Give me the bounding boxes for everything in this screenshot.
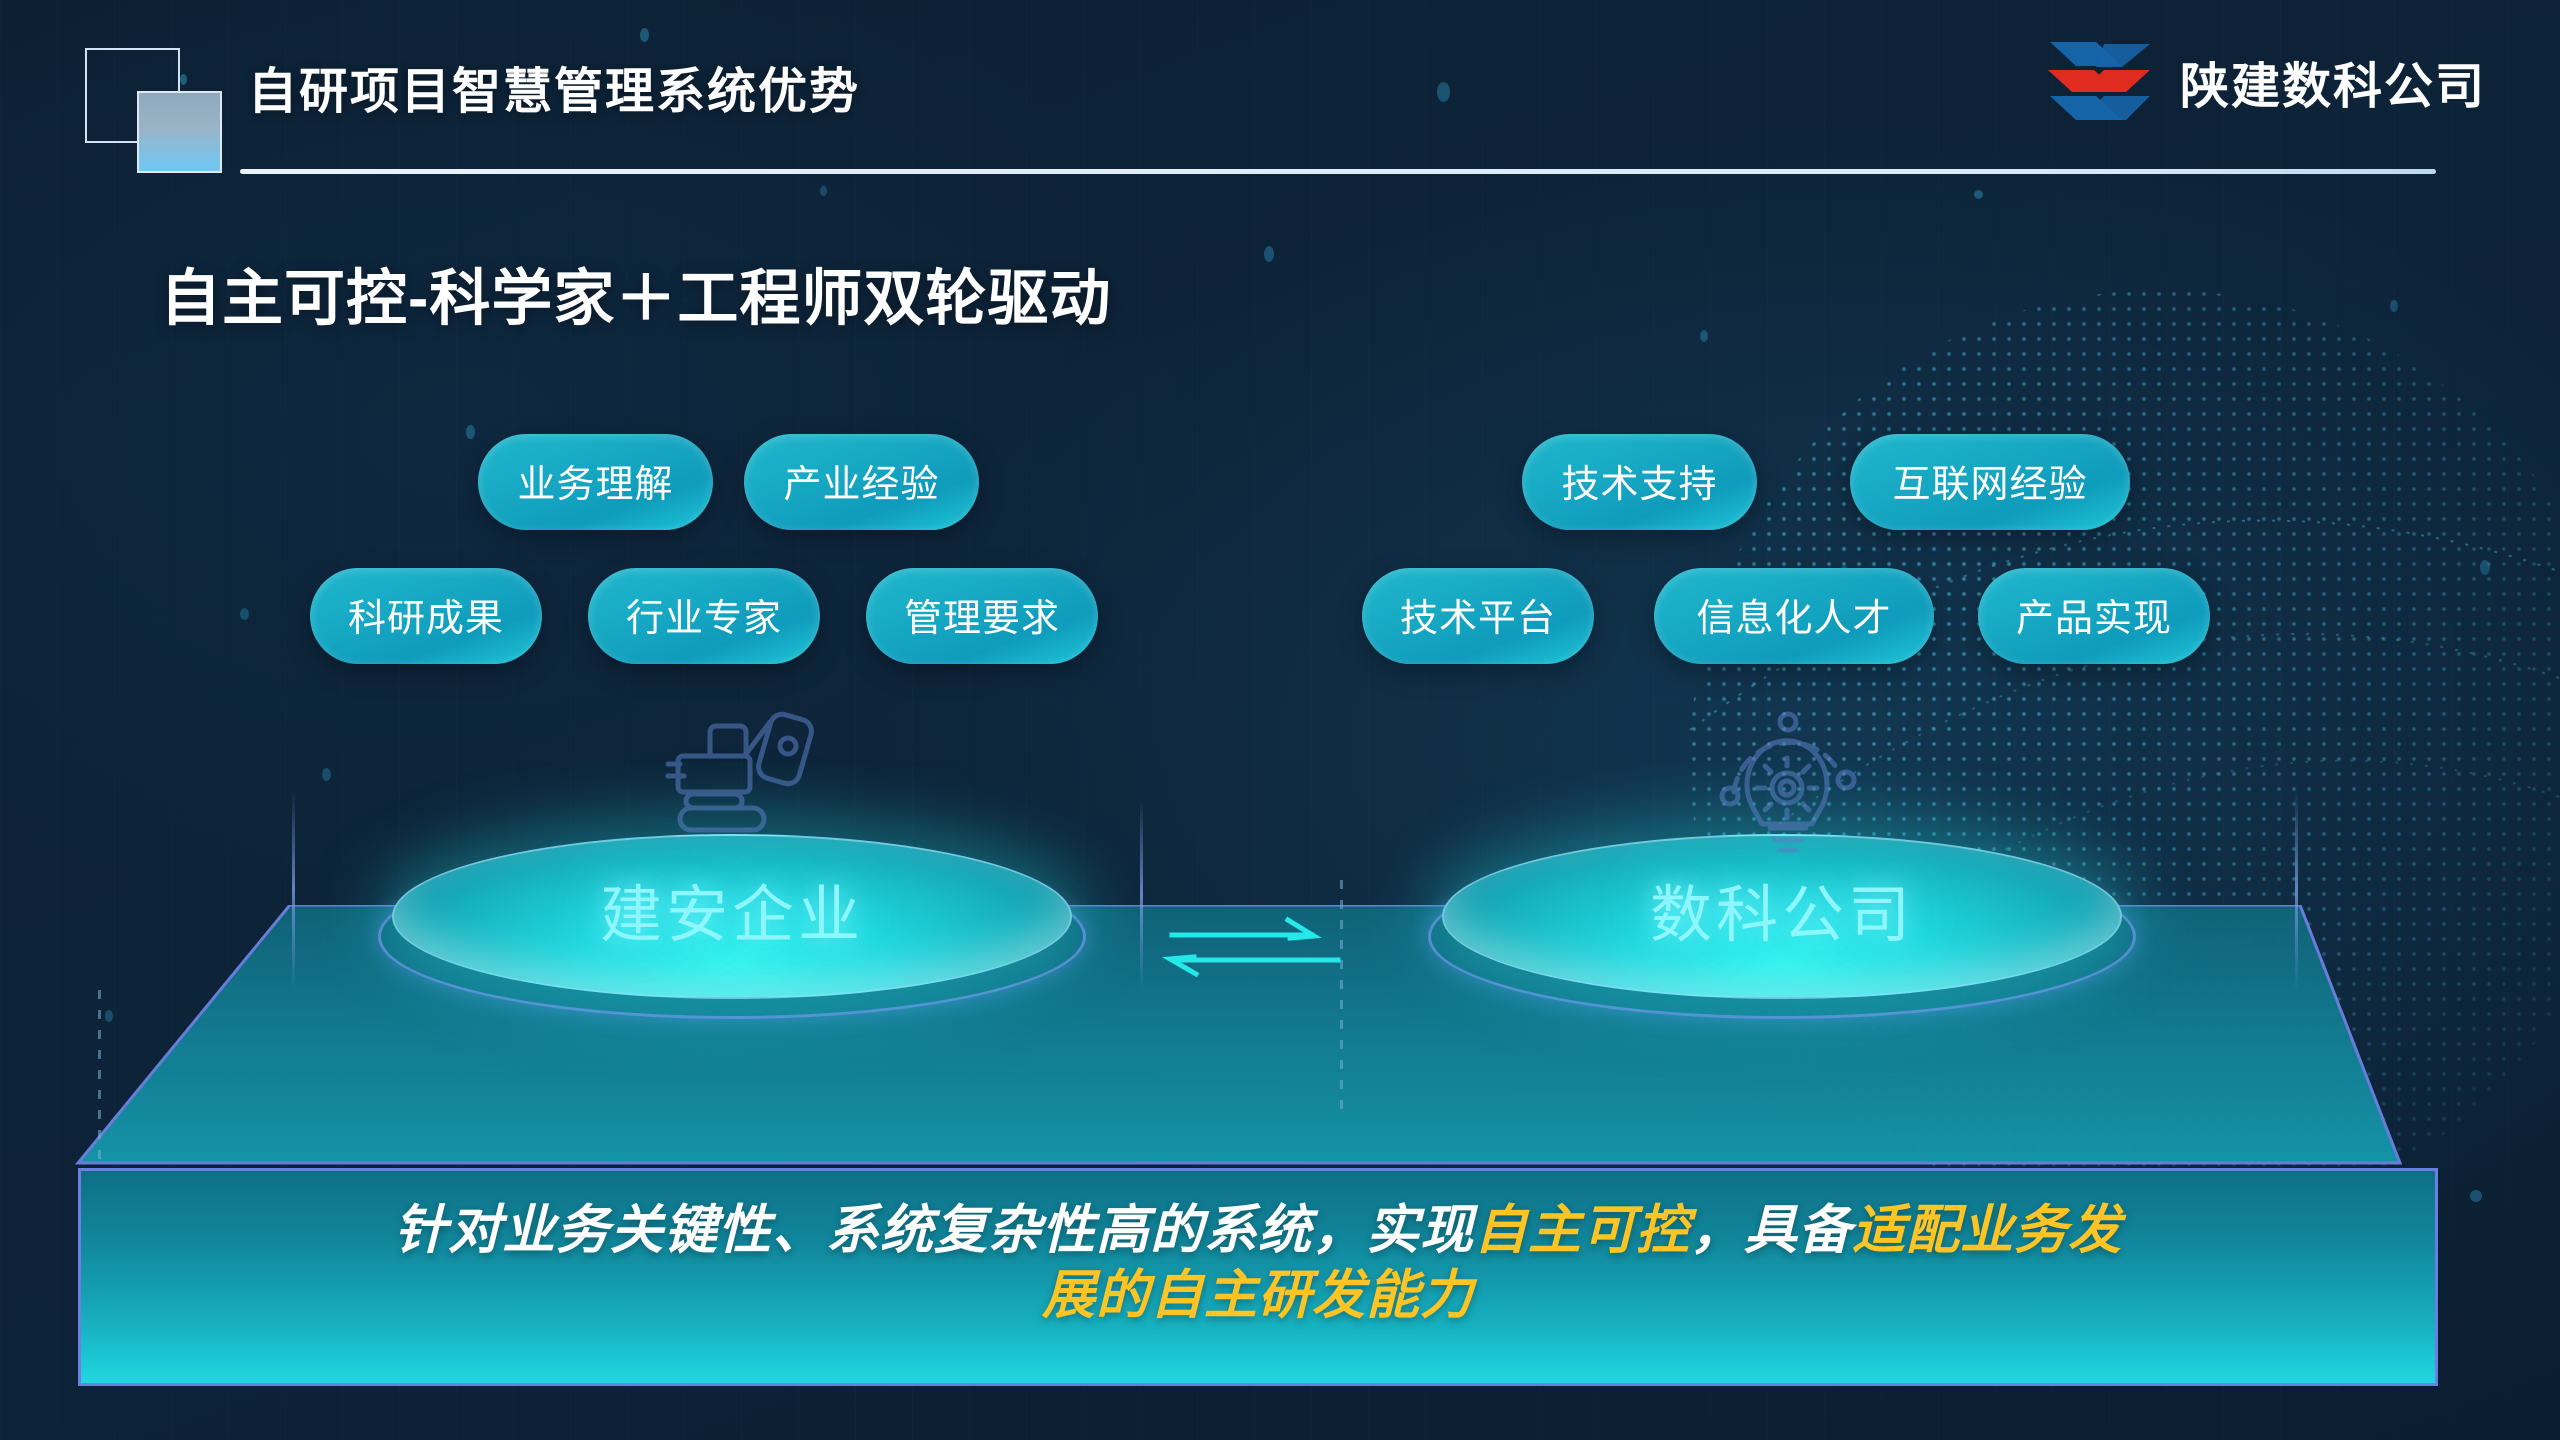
pill-label: 行业专家 [626, 587, 782, 642]
pill-right-3[interactable]: 技术平台 [1362, 568, 1594, 664]
banner-line1-part1: 针对业务关键性、系统复杂性高的系统，实现 [394, 1201, 1474, 1260]
banner-line2-highlight: 展的自主研发能力 [1042, 1266, 1474, 1325]
pill-left-3[interactable]: 科研成果 [310, 568, 542, 664]
bidirectional-arrow-icon [1130, 880, 1380, 1010]
pill-right-1[interactable]: 技术支持 [1522, 434, 1757, 530]
pill-label: 技术支持 [1561, 453, 1717, 508]
slide-header: 自研项目智慧管理系统优势 陕建数科公司 [0, 0, 2560, 185]
header-divider [240, 169, 2436, 174]
square-filled [137, 91, 222, 173]
banner-highlight-1: 自主可控 [1474, 1201, 1690, 1260]
connector-line-right [2295, 790, 2298, 990]
overlapping-squares-mark [85, 48, 210, 148]
pill-label: 产品实现 [2016, 587, 2172, 642]
summary-banner: 针对业务关键性、系统复杂性高的系统，实现自主可控，具备适配业务发 展的自主研发能… [78, 1168, 2438, 1386]
pill-left-1[interactable]: 业务理解 [478, 434, 713, 530]
disc-left-label: 建安企业 [392, 864, 1072, 954]
pill-right-4[interactable]: 信息化人才 [1654, 568, 1934, 664]
connector-dash-left [98, 990, 101, 1170]
pill-label: 科研成果 [348, 587, 504, 642]
connector-line-left [292, 790, 295, 990]
pill-label: 互联网经验 [1892, 453, 2087, 508]
slide-root: 自研项目智慧管理系统优势 陕建数科公司 自主可控-科学家＋工程师双轮驱动 [0, 0, 2560, 1440]
disc-right-label: 数科公司 [1442, 864, 2122, 954]
banner-line1-part2: ，具备 [1690, 1201, 1852, 1260]
excavator-icon [650, 698, 830, 868]
pill-left-4[interactable]: 行业专家 [588, 568, 820, 664]
pill-label: 产业经验 [783, 453, 939, 508]
pill-left-5[interactable]: 管理要求 [866, 568, 1098, 664]
pill-label: 信息化人才 [1696, 587, 1891, 642]
pill-right-5[interactable]: 产品实现 [1978, 568, 2210, 664]
header-title: 自研项目智慧管理系统优势 [248, 52, 860, 123]
gear-bulb-icon [1700, 700, 1875, 870]
summary-banner-text: 针对业务关键性、系统复杂性高的系统，实现自主可控，具备适配业务发 展的自主研发能… [81, 1199, 2435, 1328]
double-chevron-logo-icon [2046, 40, 2154, 124]
brand-name: 陕建数科公司 [2180, 47, 2486, 118]
banner-highlight-2: 适配业务发 [1852, 1201, 2122, 1260]
brand-block: 陕建数科公司 [2046, 40, 2486, 124]
pill-left-2[interactable]: 产业经验 [744, 434, 979, 530]
pill-label: 业务理解 [517, 453, 673, 508]
page-title: 自主可控-科学家＋工程师双轮驱动 [160, 248, 1111, 337]
pill-label: 技术平台 [1400, 587, 1556, 642]
pill-right-2[interactable]: 互联网经验 [1850, 434, 2130, 530]
pill-label: 管理要求 [904, 587, 1060, 642]
